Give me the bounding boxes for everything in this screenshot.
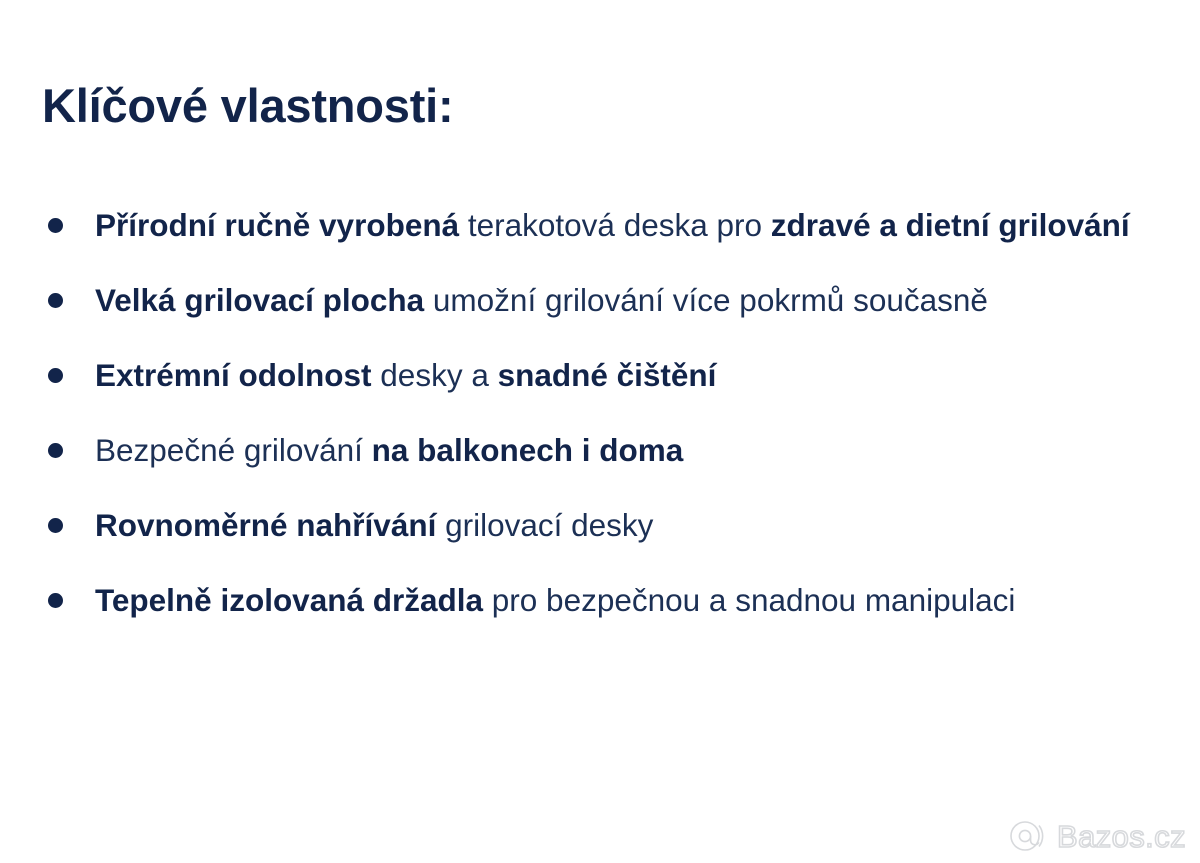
- list-item: Rovnoměrné nahřívání grilovací desky: [40, 496, 1164, 554]
- key-features-list: Přírodní ručně vyrobená terakotová deska…: [40, 196, 1164, 629]
- watermark: Bazos.cz: [1008, 819, 1186, 853]
- list-item-text: Bezpečné grilování na balkonech i doma: [95, 421, 1164, 479]
- bullet-dot-icon: [48, 218, 63, 233]
- at-sign-icon: [1008, 819, 1050, 853]
- list-item-text: Extrémní odolnost desky a snadné čištění: [95, 346, 1164, 404]
- bullet-dot-icon: [48, 293, 63, 308]
- list-item: Extrémní odolnost desky a snadné čištění: [40, 346, 1164, 404]
- page-title: Klíčové vlastnosti:: [42, 78, 454, 133]
- list-item: Tepelně izolovaná držadla pro bezpečnou …: [40, 571, 1164, 629]
- bullet-dot-icon: [48, 368, 63, 383]
- slide-canvas: Klíčové vlastnosti: Přírodní ručně vyrob…: [0, 0, 1200, 863]
- bullet-dot-icon: [48, 443, 63, 458]
- bullet-dot-icon: [48, 593, 63, 608]
- list-item: Velká grilovací plocha umožní grilování …: [40, 271, 1164, 329]
- watermark-label: Bazos.cz: [1057, 821, 1186, 852]
- bullet-dot-icon: [48, 518, 63, 533]
- list-item: Přírodní ručně vyrobená terakotová deska…: [40, 196, 1164, 254]
- list-item-text: Tepelně izolovaná držadla pro bezpečnou …: [95, 571, 1164, 629]
- list-item-text: Velká grilovací plocha umožní grilování …: [95, 271, 1164, 329]
- list-item-text: Rovnoměrné nahřívání grilovací desky: [95, 496, 1164, 554]
- list-item: Bezpečné grilování na balkonech i doma: [40, 421, 1164, 479]
- list-item-text: Přírodní ručně vyrobená terakotová deska…: [95, 196, 1164, 254]
